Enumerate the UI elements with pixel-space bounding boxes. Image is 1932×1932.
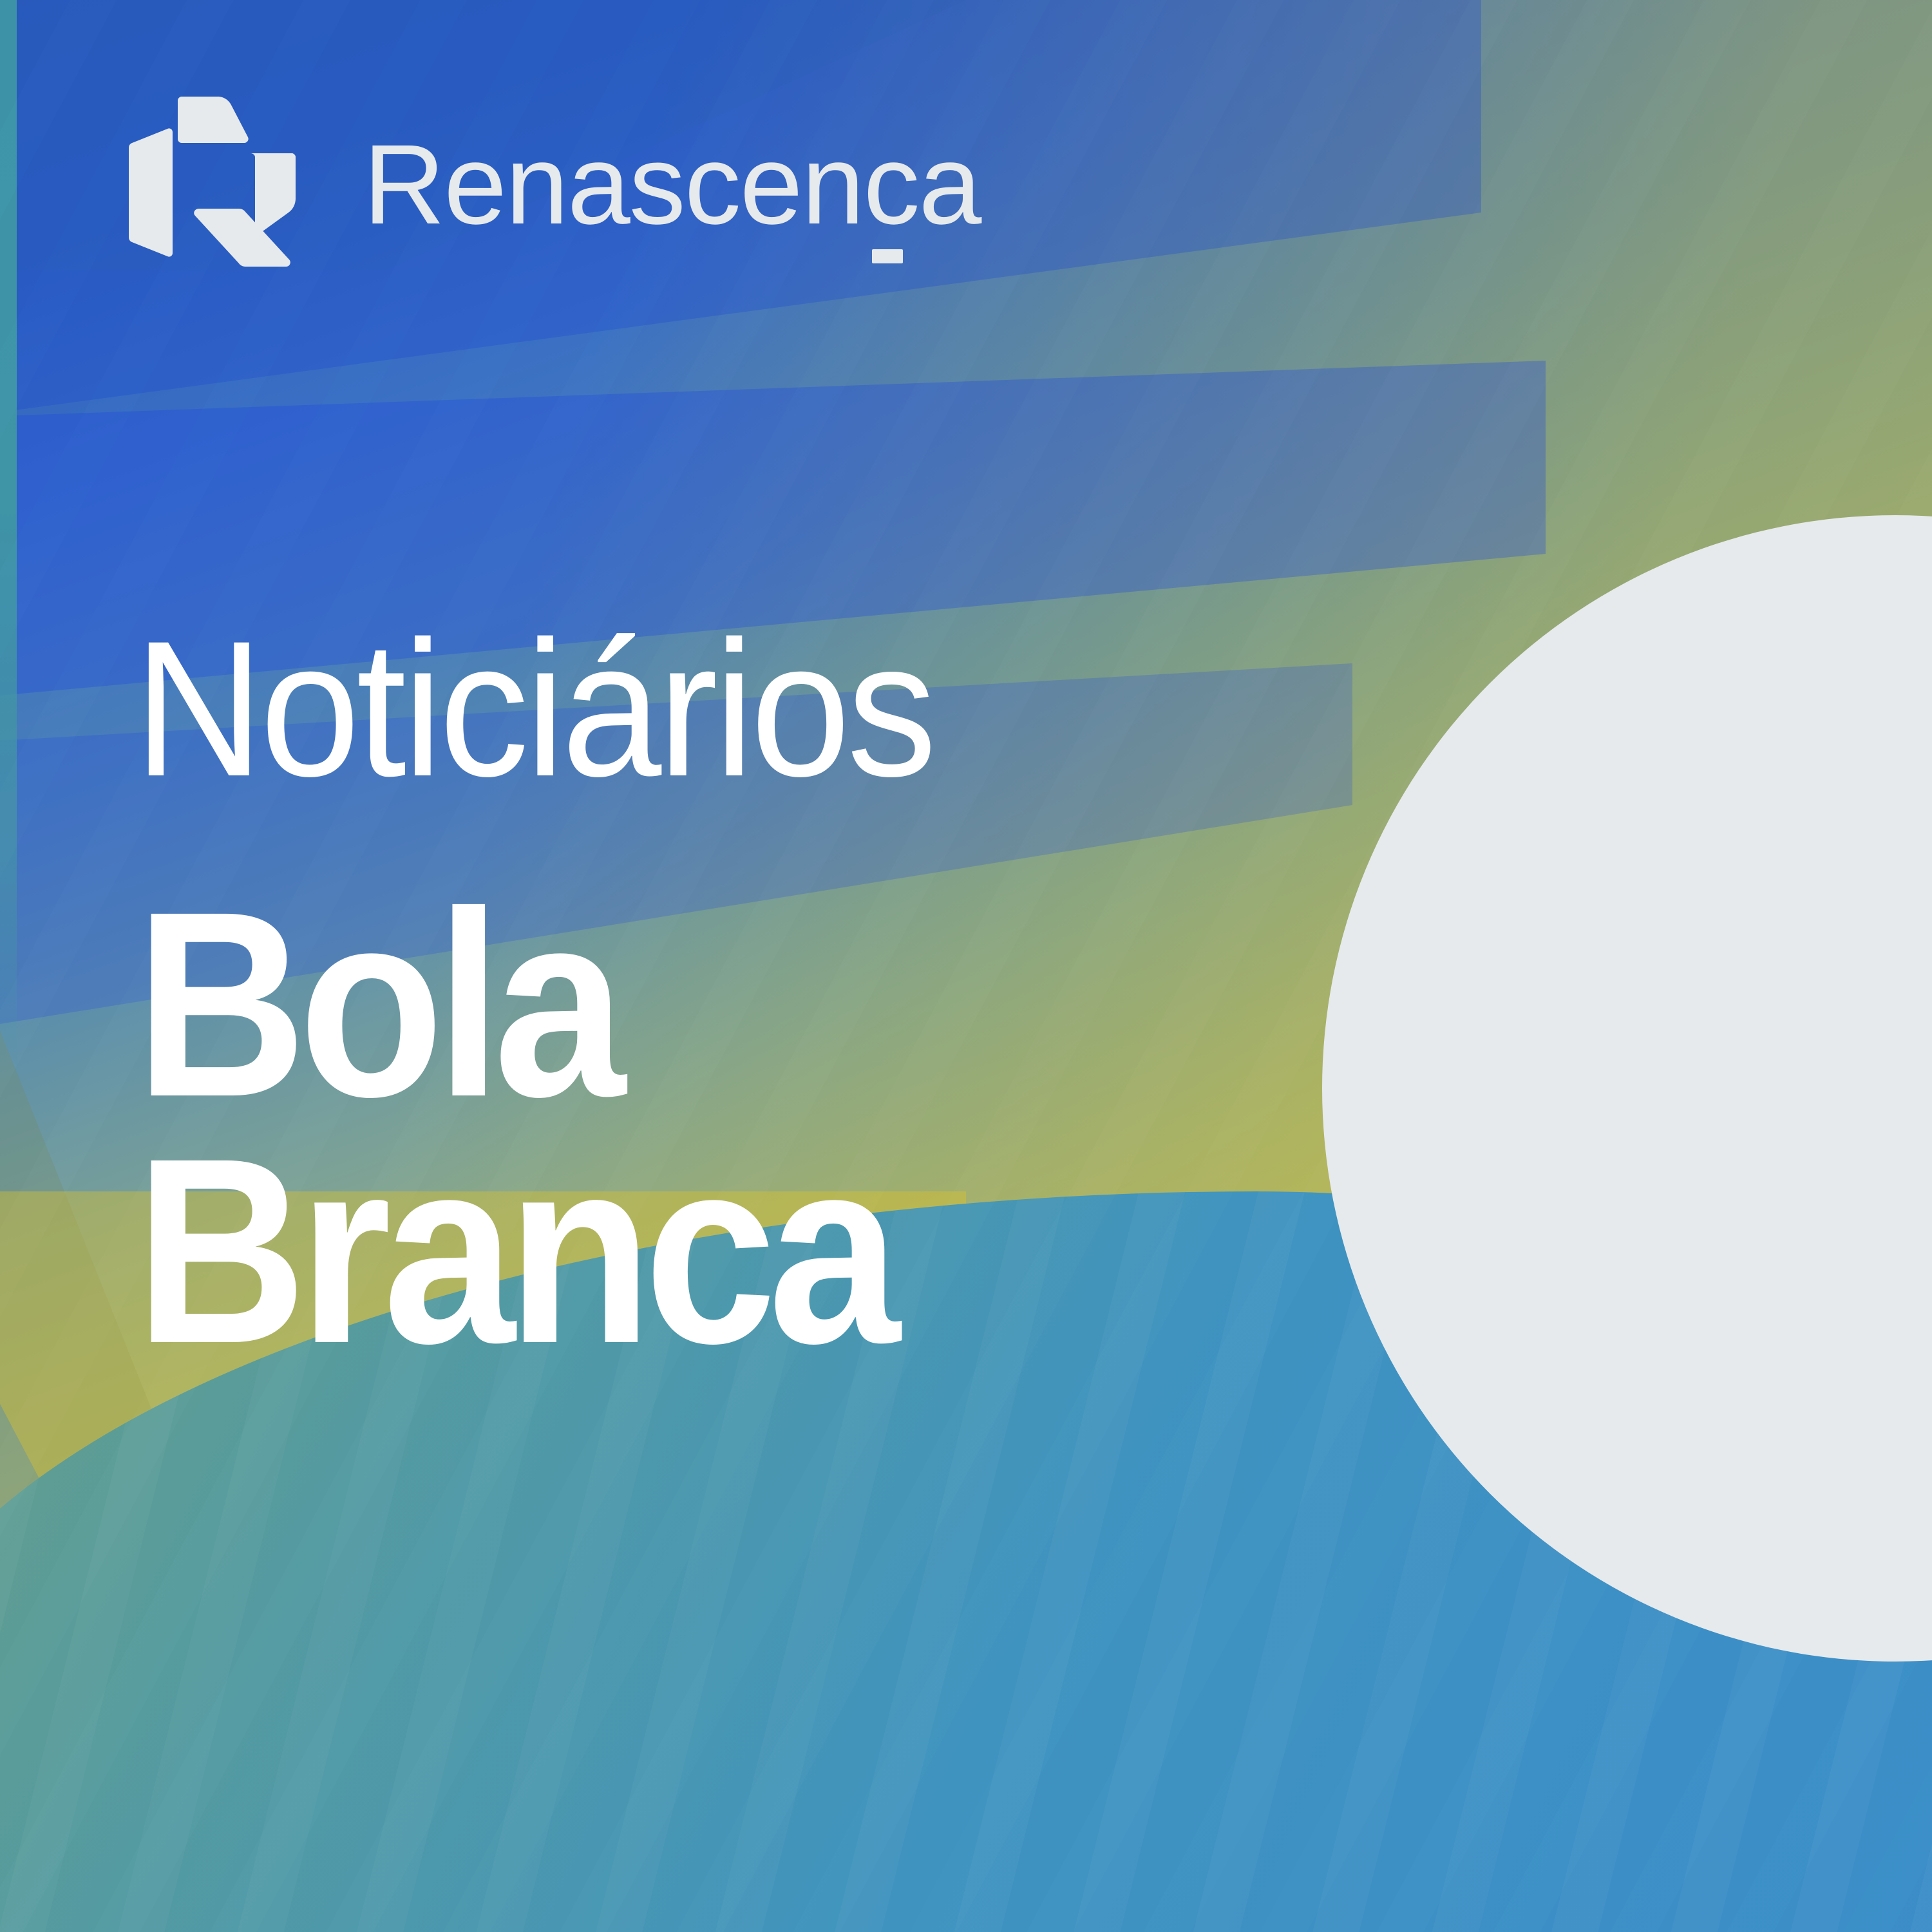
brand-logo-lockup: Renascenca xyxy=(126,95,980,267)
podcast-cover-art: Renascenca Noticiários Bola Branca xyxy=(0,0,1932,1932)
show-main-title: Bola Branca xyxy=(135,881,893,1375)
wordmark-part-one: Renascen xyxy=(363,122,864,248)
renascenca-r-monogram-icon xyxy=(126,95,307,267)
show-main-title-line-1: Bola xyxy=(135,881,893,1128)
show-main-title-line-2: Branca xyxy=(135,1128,893,1374)
brand-wordmark: Renascenca xyxy=(363,128,980,241)
wordmark-cedilla-glyph: c xyxy=(864,122,919,248)
cedilla-bar-icon xyxy=(872,249,903,263)
show-kicker-title: Noticiários xyxy=(134,620,933,797)
wordmark-part-two: a xyxy=(919,122,981,248)
wordmark-cedilla-letter: c xyxy=(864,128,919,241)
